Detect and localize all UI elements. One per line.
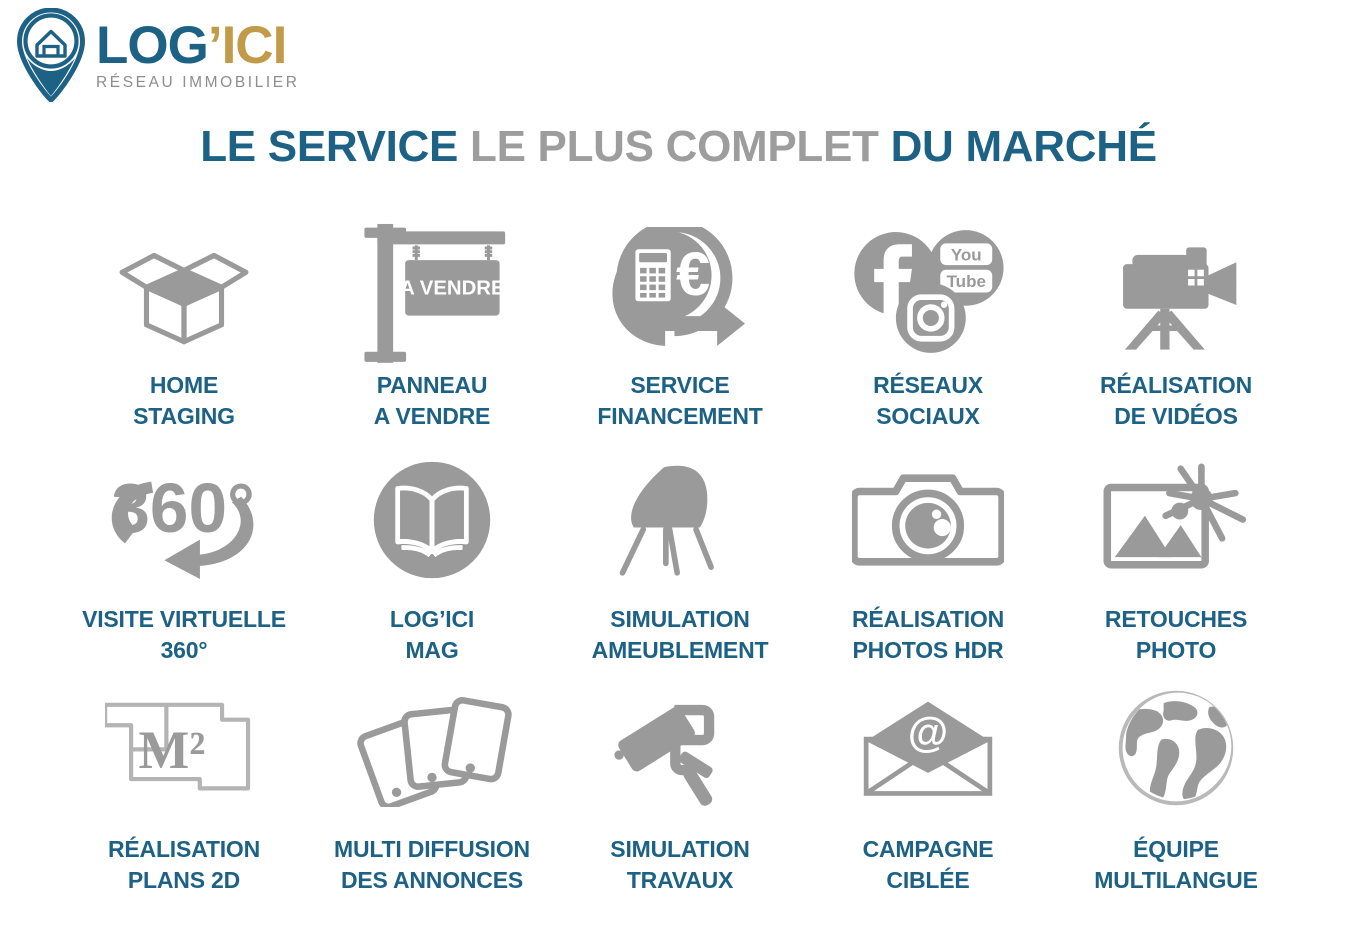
paint-roller-icon <box>556 678 804 818</box>
service-item-home-staging[interactable]: HOME STAGING <box>60 222 308 450</box>
open-box-icon <box>60 222 308 362</box>
video-camera-tripod-icon <box>1052 222 1300 362</box>
service-label-line2: PHOTO <box>1105 635 1247 666</box>
360-degrees-icon: 360° <box>60 450 308 590</box>
360-label: 360° <box>111 469 254 547</box>
service-label-line2: MAG <box>390 635 474 666</box>
service-item-realisation-photos-hdr[interactable]: RÉALISATION PHOTOS HDR <box>804 450 1052 678</box>
sign-text: A VENDRE <box>400 277 504 299</box>
infographic-page: LOG’ICI RÉSEAU IMMOBILIER LE SERVICE LE … <box>0 0 1357 950</box>
youtube-label-bottom: Tube <box>947 272 986 291</box>
service-item-visite-virtuelle-360[interactable]: 360° VISITE VIRTUELLE 360° <box>60 450 308 678</box>
service-label-line2: DE VIDÉOS <box>1100 401 1252 432</box>
globe-icon <box>1052 678 1300 818</box>
service-label-line1: CAMPAGNE <box>863 836 994 862</box>
logo-name-part2: ICI <box>222 16 287 75</box>
service-item-retouches-photo[interactable]: RETOUCHES PHOTO <box>1052 450 1300 678</box>
social-networks-icon: You Tube <box>804 222 1052 362</box>
photo-camera-icon <box>804 450 1052 590</box>
service-label-line1: RÉSEAUX <box>873 372 983 398</box>
logo: LOG’ICI RÉSEAU IMMOBILIER <box>14 8 304 104</box>
service-label-line1: RÉALISATION <box>1100 372 1252 398</box>
service-label-line2: DES ANNONCES <box>334 865 530 896</box>
photo-retouch-icon <box>1052 450 1300 590</box>
service-item-campagne-ciblee[interactable]: @ CAMPAGNE CIBLÉE <box>804 678 1052 906</box>
page-title: LE SERVICE LE PLUS COMPLET DU MARCHÉ <box>0 122 1357 172</box>
youtube-label-top: You <box>951 245 982 264</box>
service-item-simulation-ameublement[interactable]: SIMULATION AMEUBLEMENT <box>556 450 804 678</box>
services-grid: HOME STAGING <box>60 222 1300 906</box>
service-item-realisation-plans-2d[interactable]: M² RÉALISATION PLANS 2D <box>60 678 308 906</box>
service-label-line1: RETOUCHES <box>1105 606 1247 632</box>
service-item-equipe-multilangue[interactable]: ÉQUIPE MULTILANGUE <box>1052 678 1300 906</box>
service-label-line2: 360° <box>82 635 286 666</box>
service-label-line1: SIMULATION <box>610 606 749 632</box>
floor-plan-m2-icon: M² <box>60 678 308 818</box>
service-item-logici-mag[interactable]: LOG’ICI MAG <box>308 450 556 678</box>
service-label-line1: SIMULATION <box>610 836 749 862</box>
service-label: RÉALISATION DE VIDÉOS <box>1100 370 1252 431</box>
logo-name-part1: LOG <box>96 16 208 75</box>
service-label: CAMPAGNE CIBLÉE <box>863 834 994 895</box>
calculator-euro-icon: € <box>556 222 804 362</box>
service-item-realisation-de-videos[interactable]: RÉALISATION DE VIDÉOS <box>1052 222 1300 450</box>
service-item-multi-diffusion[interactable]: MULTI DIFFUSION DES ANNONCES <box>308 678 556 906</box>
service-label-line2: PLANS 2D <box>108 865 260 896</box>
instagram-icon <box>896 283 966 353</box>
service-label: RÉALISATION PHOTOS HDR <box>852 604 1004 665</box>
service-label-line2: SOCIAUX <box>873 401 983 432</box>
logo-wordmark: LOG’ICI RÉSEAU IMMOBILIER <box>96 8 300 92</box>
svg-text:€: € <box>676 240 710 308</box>
service-label-line1: MULTI DIFFUSION <box>334 836 530 862</box>
service-label-line1: LOG’ICI <box>390 606 474 632</box>
service-label: MULTI DIFFUSION DES ANNONCES <box>334 834 530 895</box>
service-label: RÉALISATION PLANS 2D <box>108 834 260 895</box>
open-book-icon <box>308 450 556 590</box>
service-label: SIMULATION TRAVAUX <box>610 834 749 895</box>
service-label-line1: RÉALISATION <box>108 836 260 862</box>
location-pin-house-icon <box>14 8 88 102</box>
title-part3: DU MARCHÉ <box>891 122 1157 171</box>
service-label-line1: ÉQUIPE <box>1133 836 1219 862</box>
chair-icon <box>556 450 804 590</box>
title-part1: LE SERVICE <box>200 122 458 171</box>
service-label-line2: STAGING <box>133 401 235 432</box>
service-label: SERVICE FINANCEMENT <box>597 370 762 431</box>
service-item-reseaux-sociaux[interactable]: You Tube RÉSEAUX SOCIAUX <box>804 222 1052 450</box>
tablets-icon <box>308 678 556 818</box>
email-envelope-icon: @ <box>804 678 1052 818</box>
service-label-line1: SERVICE <box>630 372 729 398</box>
service-item-panneau-a-vendre[interactable]: A VENDRE PANNEAU A VENDRE <box>308 222 556 450</box>
service-label-line1: RÉALISATION <box>852 606 1004 632</box>
service-label-line2: A VENDRE <box>374 401 490 432</box>
service-item-service-financement[interactable]: € SERVICE FINANCEMENT <box>556 222 804 450</box>
service-label-line2: CIBLÉE <box>863 865 994 896</box>
service-label: PANNEAU A VENDRE <box>374 370 490 431</box>
service-label-line1: VISITE VIRTUELLE <box>82 606 286 632</box>
service-label: VISITE VIRTUELLE 360° <box>82 604 286 665</box>
service-label-line2: MULTILANGUE <box>1094 865 1257 896</box>
service-label: RETOUCHES PHOTO <box>1105 604 1247 665</box>
logo-apostrophe: ’ <box>208 16 222 75</box>
service-label: SIMULATION AMEUBLEMENT <box>592 604 769 665</box>
service-label-line2: AMEUBLEMENT <box>592 635 769 666</box>
service-label: RÉSEAUX SOCIAUX <box>873 370 983 431</box>
service-label-line2: PHOTOS HDR <box>852 635 1004 666</box>
service-label: HOME STAGING <box>133 370 235 431</box>
service-label-line2: FINANCEMENT <box>597 401 762 432</box>
for-sale-sign-icon: A VENDRE <box>308 222 556 362</box>
service-label-line2: TRAVAUX <box>610 865 749 896</box>
service-label-line1: PANNEAU <box>377 372 488 398</box>
service-label-line1: HOME <box>150 372 218 398</box>
title-part2: LE PLUS COMPLET <box>470 122 879 171</box>
service-label: ÉQUIPE MULTILANGUE <box>1094 834 1257 895</box>
service-item-simulation-travaux[interactable]: SIMULATION TRAVAUX <box>556 678 804 906</box>
at-symbol: @ <box>908 710 948 756</box>
service-label: LOG’ICI MAG <box>390 604 474 665</box>
m2-label: M² <box>138 720 205 780</box>
logo-tagline: RÉSEAU IMMOBILIER <box>96 74 300 92</box>
